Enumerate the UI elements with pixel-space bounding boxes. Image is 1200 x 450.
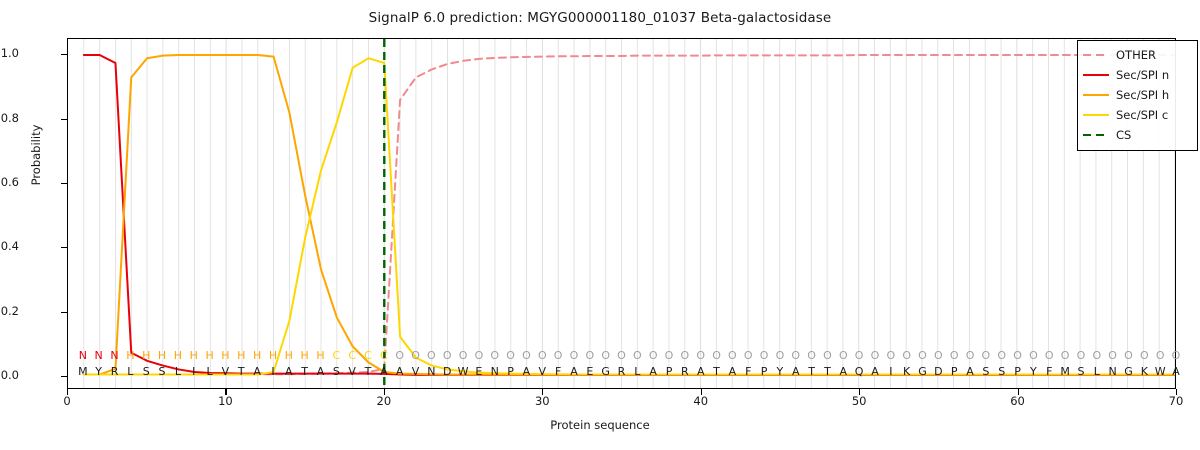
- residue-region-label: O: [646, 348, 660, 364]
- y-axis-label: Probability: [29, 75, 43, 235]
- sequence-residue: A: [282, 364, 296, 380]
- sequence-residue: N: [424, 364, 438, 380]
- residue-region-label: O: [1026, 348, 1040, 364]
- residue-region-label: H: [218, 348, 232, 364]
- residue-region-label: O: [567, 348, 581, 364]
- residue-region-label: O: [947, 348, 961, 364]
- residue-region-label: O: [504, 348, 518, 364]
- sequence-residue: R: [678, 364, 692, 380]
- page-title: SignalP 6.0 prediction: MGYG000001180_01…: [0, 10, 1200, 26]
- y-tick-label: 0.8: [0, 111, 19, 125]
- legend-item-other: OTHER: [1083, 45, 1192, 65]
- legend-swatch-icon: [1083, 129, 1109, 141]
- residue-region-label: H: [298, 348, 312, 364]
- sequence-residue: Y: [92, 364, 106, 380]
- signalp-plot-figure: SignalP 6.0 prediction: MGYG000001180_01…: [0, 0, 1200, 450]
- sequence-residue: L: [123, 364, 137, 380]
- sequence-residue: D: [440, 364, 454, 380]
- sequence-residue: A: [694, 364, 708, 380]
- x-tick-mark: [1018, 389, 1019, 395]
- sequence-residue: G: [1121, 364, 1135, 380]
- sequence-residue: P: [947, 364, 961, 380]
- x-axis-label: Protein sequence: [0, 418, 1200, 432]
- plot-area: [67, 38, 1176, 389]
- sequence-residue: A: [250, 364, 264, 380]
- residue-region-label: O: [519, 348, 533, 364]
- sequence-residue: S: [329, 364, 343, 380]
- sequence-residue: T: [710, 364, 724, 380]
- legend-item-sec-spi-c: Sec/SPI c: [1083, 105, 1192, 125]
- sequence-residue: D: [931, 364, 945, 380]
- residue-region-label: O: [884, 348, 898, 364]
- residue-region-label: H: [203, 348, 217, 364]
- x-tick-label: 60: [988, 394, 1048, 408]
- residue-region-label: H: [155, 348, 169, 364]
- legend-label: Sec/SPI c: [1116, 108, 1168, 122]
- residue-region-label: H: [171, 348, 185, 364]
- residue-region-label: O: [963, 348, 977, 364]
- residue-region-label: O: [630, 348, 644, 364]
- sequence-residue: S: [139, 364, 153, 380]
- residue-region-label: O: [440, 348, 454, 364]
- residue-region-label: O: [805, 348, 819, 364]
- residue-region-label: O: [535, 348, 549, 364]
- residue-region-label: O: [694, 348, 708, 364]
- sequence-residue: A: [836, 364, 850, 380]
- series-line-sec-spi-h: [84, 55, 1175, 375]
- x-tick-label: 20: [354, 394, 414, 408]
- legend-item-cs: CS: [1083, 125, 1192, 145]
- x-tick-label: 0: [37, 394, 97, 408]
- residue-region-label: O: [995, 348, 1009, 364]
- sequence-residue: Q: [852, 364, 866, 380]
- legend-item-sec-spi-n: Sec/SPI n: [1083, 65, 1192, 85]
- y-tick-label: 0.6: [0, 175, 19, 189]
- x-tick-label: 40: [671, 394, 731, 408]
- sequence-residue: P: [662, 364, 676, 380]
- sequence-residue: K: [900, 364, 914, 380]
- sequence-residue: A: [868, 364, 882, 380]
- sequence-residue: N: [1106, 364, 1120, 380]
- residue-region-label: O: [916, 348, 930, 364]
- residue-region-label: O: [678, 348, 692, 364]
- sequence-residue: T: [820, 364, 834, 380]
- sequence-residue: S: [979, 364, 993, 380]
- residue-region-label: O: [393, 348, 407, 364]
- sequence-residue: I: [266, 364, 280, 380]
- sequence-residue: A: [377, 364, 391, 380]
- sequence-residue: K: [1137, 364, 1151, 380]
- sequence-residue: G: [916, 364, 930, 380]
- x-tick-mark: [67, 389, 68, 395]
- residue-region-label: O: [789, 348, 803, 364]
- residue-region-label: C: [361, 348, 375, 364]
- residue-region-label: O: [583, 348, 597, 364]
- x-tick-label: 30: [512, 394, 572, 408]
- legend-label: CS: [1116, 128, 1131, 142]
- residue-region-label: O: [472, 348, 486, 364]
- residue-region-label: C: [345, 348, 359, 364]
- sequence-residue: L: [630, 364, 644, 380]
- residue-region-label: H: [282, 348, 296, 364]
- series-line-other: [84, 55, 1175, 375]
- sequence-residue: L: [203, 364, 217, 380]
- residue-region-label: O: [599, 348, 613, 364]
- residue-region-label: H: [234, 348, 248, 364]
- sequence-residue: T: [805, 364, 819, 380]
- x-tick-mark: [225, 389, 226, 395]
- sequence-residue: W: [456, 364, 470, 380]
- series-lines: [68, 39, 1175, 388]
- residue-region-label: O: [1153, 348, 1167, 364]
- sequence-residue: S: [1074, 364, 1088, 380]
- sequence-residue: V: [409, 364, 423, 380]
- sequence-residue: P: [757, 364, 771, 380]
- residue-region-label: O: [1137, 348, 1151, 364]
- sequence-residue: E: [472, 364, 486, 380]
- residue-region-label: H: [123, 348, 137, 364]
- residue-region-label: O: [488, 348, 502, 364]
- residue-region-label: C: [329, 348, 343, 364]
- x-tick-mark: [701, 389, 702, 395]
- residue-region-label: H: [266, 348, 280, 364]
- sequence-residue: P: [504, 364, 518, 380]
- sequence-residue: Y: [773, 364, 787, 380]
- sequence-residue: F: [741, 364, 755, 380]
- residue-region-label: O: [773, 348, 787, 364]
- residue-region-label: N: [92, 348, 106, 364]
- x-tick-mark: [859, 389, 860, 395]
- sequence-residue: T: [361, 364, 375, 380]
- residue-region-label: O: [662, 348, 676, 364]
- sequence-residue: A: [519, 364, 533, 380]
- sequence-residue: S: [995, 364, 1009, 380]
- x-tick-mark: [1176, 389, 1177, 395]
- residue-region-label: H: [139, 348, 153, 364]
- legend-swatch-icon: [1083, 49, 1109, 61]
- sequence-residue: R: [615, 364, 629, 380]
- legend-label: Sec/SPI n: [1116, 68, 1169, 82]
- legend-swatch-icon: [1083, 109, 1109, 121]
- series-line-sec-spi-c: [84, 58, 1175, 374]
- residue-region-label: O: [852, 348, 866, 364]
- sequence-residue: A: [393, 364, 407, 380]
- x-tick-mark: [384, 389, 385, 395]
- residue-region-label: N: [76, 348, 90, 364]
- sequence-residue: I: [187, 364, 201, 380]
- sequence-residue: A: [725, 364, 739, 380]
- residue-region-label: O: [725, 348, 739, 364]
- x-tick-label: 70: [1146, 394, 1200, 408]
- residue-region-label: O: [979, 348, 993, 364]
- sequence-residue: A: [963, 364, 977, 380]
- x-tick-label: 10: [195, 394, 255, 408]
- sequence-residue: P: [1011, 364, 1025, 380]
- sequence-residue: M: [1058, 364, 1072, 380]
- sequence-residue: N: [488, 364, 502, 380]
- residue-region-label: O: [551, 348, 565, 364]
- sequence-residue: F: [551, 364, 565, 380]
- residue-region-label: N: [108, 348, 122, 364]
- sequence-residue: A: [1169, 364, 1183, 380]
- residue-region-label: C: [377, 348, 391, 364]
- sequence-residue: Y: [1026, 364, 1040, 380]
- residue-region-label: H: [313, 348, 327, 364]
- sequence-residue: L: [1090, 364, 1104, 380]
- sequence-residue: F: [1042, 364, 1056, 380]
- residue-region-label: O: [1121, 348, 1135, 364]
- residue-region-label: O: [931, 348, 945, 364]
- sequence-residue: A: [567, 364, 581, 380]
- residue-region-label: H: [187, 348, 201, 364]
- y-tick-label: 0.0: [0, 368, 19, 382]
- residue-region-label: O: [1090, 348, 1104, 364]
- residue-region-label: O: [900, 348, 914, 364]
- y-tick-label: 0.2: [0, 304, 19, 318]
- residue-region-label: O: [820, 348, 834, 364]
- residue-region-label: O: [741, 348, 755, 364]
- sequence-residue: V: [535, 364, 549, 380]
- x-tick-mark: [542, 389, 543, 395]
- sequence-residue: A: [313, 364, 327, 380]
- residue-region-label: O: [1058, 348, 1072, 364]
- sequence-residue: M: [76, 364, 90, 380]
- residue-region-label: O: [1042, 348, 1056, 364]
- sequence-residue: S: [155, 364, 169, 380]
- sequence-residue: L: [171, 364, 185, 380]
- legend: OTHERSec/SPI nSec/SPI hSec/SPI cCS: [1077, 40, 1198, 151]
- residue-region-label: O: [1106, 348, 1120, 364]
- residue-region-label: O: [1169, 348, 1183, 364]
- residue-region-label: O: [409, 348, 423, 364]
- x-tick-label: 50: [829, 394, 889, 408]
- sequence-residue: V: [345, 364, 359, 380]
- residue-region-label: O: [710, 348, 724, 364]
- legend-item-sec-spi-h: Sec/SPI h: [1083, 85, 1192, 105]
- sequence-residue: G: [599, 364, 613, 380]
- y-tick-label: 1.0: [0, 46, 19, 60]
- legend-label: OTHER: [1116, 48, 1156, 62]
- residue-region-label: O: [757, 348, 771, 364]
- residue-region-label: O: [1074, 348, 1088, 364]
- y-tick-label: 0.4: [0, 239, 19, 253]
- sequence-residue: E: [583, 364, 597, 380]
- legend-swatch-icon: [1083, 89, 1109, 101]
- residue-region-label: O: [868, 348, 882, 364]
- residue-region-label: H: [250, 348, 264, 364]
- sequence-residue: I: [884, 364, 898, 380]
- sequence-residue: T: [234, 364, 248, 380]
- sequence-residue: W: [1153, 364, 1167, 380]
- sequence-residue: A: [646, 364, 660, 380]
- series-line-sec-spi-n: [84, 55, 1175, 375]
- residue-region-label: O: [615, 348, 629, 364]
- residue-region-label: O: [836, 348, 850, 364]
- plot-inner: [68, 39, 1175, 388]
- legend-swatch-icon: [1083, 69, 1109, 81]
- residue-region-label: O: [1011, 348, 1025, 364]
- residue-region-label: O: [456, 348, 470, 364]
- sequence-residue: A: [789, 364, 803, 380]
- residue-region-label: O: [424, 348, 438, 364]
- legend-label: Sec/SPI h: [1116, 88, 1169, 102]
- sequence-residue: V: [218, 364, 232, 380]
- sequence-residue: R: [108, 364, 122, 380]
- sequence-residue: T: [298, 364, 312, 380]
